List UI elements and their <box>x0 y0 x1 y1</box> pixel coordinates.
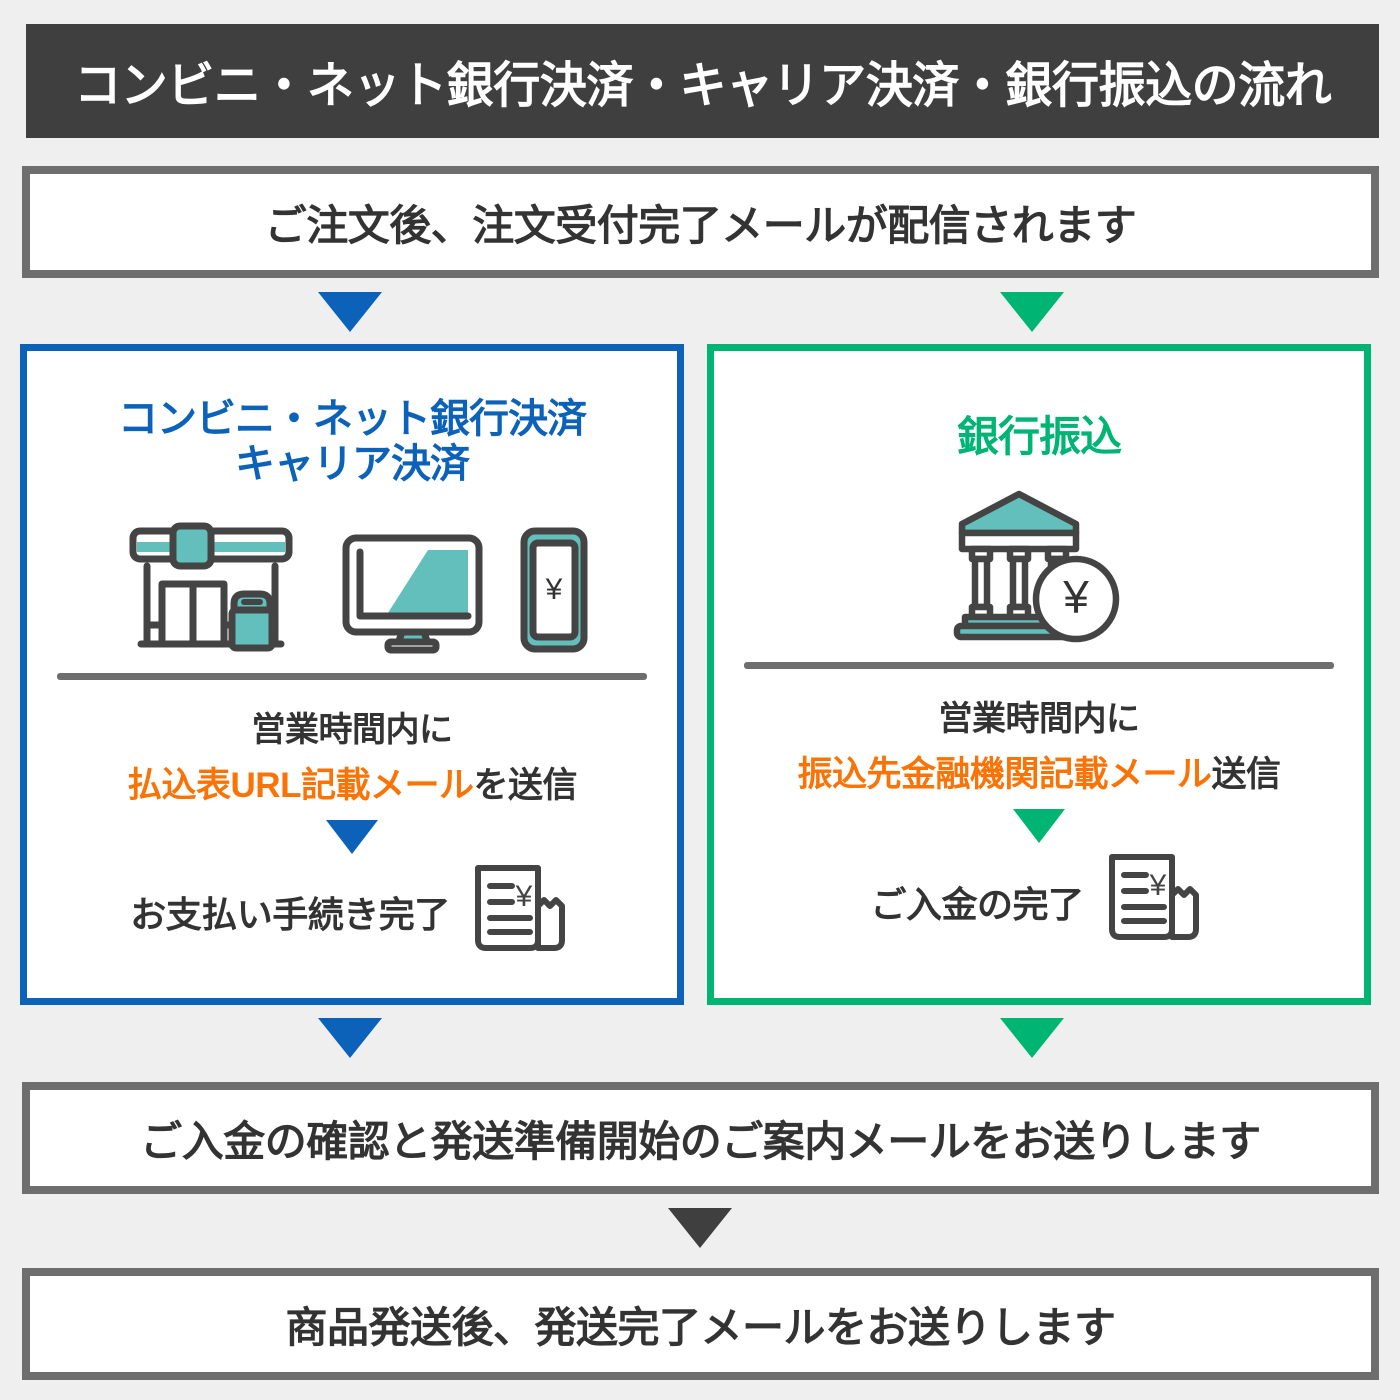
down-arrow-icon-conveni-out <box>318 1018 382 1058</box>
down-arrow-icon-bank-out <box>1000 1018 1064 1058</box>
bank-step-second: 振込先金融機関記載メール送信 <box>714 746 1364 797</box>
bank-building-yen-icon: ¥ <box>948 485 1130 648</box>
svg-text:¥: ¥ <box>514 880 532 913</box>
flow-diagram-canvas: コンビニ・ネット銀行決済・キャリア決済・銀行振込の流れ ご注文後、注文受付完了メ… <box>0 0 1400 1400</box>
conveni-step-highlight: 払込表URL記載メール <box>127 766 473 805</box>
bank-step-first: 営業時間内に <box>714 691 1364 740</box>
panel-divider <box>57 673 647 680</box>
down-arrow-icon-bank-inner <box>1013 809 1065 843</box>
payment-panel-bank: 銀行振込 <box>707 344 1371 1005</box>
down-arrow-icon-conveni-inner <box>326 820 378 854</box>
panel-divider <box>744 662 1334 669</box>
step-banner-payment-confirmed: ご入金の確認と発送準備開始のご案内メールをお送りします <box>22 1082 1379 1194</box>
receipt-yen-icon: ¥ <box>1100 851 1208 952</box>
payment-panel-conveni-icons: ¥ <box>27 509 677 659</box>
bank-complete-label: ご入金の完了 <box>870 876 1083 928</box>
smartphone-yen-icon: ¥ <box>519 526 589 659</box>
conveni-step-second: 払込表URL記載メールを送信 <box>27 757 677 808</box>
step-banner-shipped: 商品発送後、発送完了メールをお送りします <box>22 1268 1379 1380</box>
bank-complete-row: ご入金の完了 ¥ <box>714 851 1364 952</box>
page-title-bar: コンビニ・ネット銀行決済・キャリア決済・銀行振込の流れ <box>26 24 1379 138</box>
conveni-complete-label: お支払い手続き完了 <box>130 886 450 938</box>
desktop-monitor-icon <box>340 532 485 659</box>
step-banner-shipped-label: 商品発送後、発送完了メールをお送りします <box>285 1294 1115 1355</box>
payment-panel-conveni-heading: コンビニ・ネット銀行決済 キャリア決済 <box>27 397 677 487</box>
conveni-step-first: 営業時間内に <box>27 702 677 751</box>
page-title: コンビニ・ネット銀行決済・キャリア決済・銀行振込の流れ <box>74 46 1331 117</box>
bank-step-highlight: 振込先金融機関記載メール <box>797 755 1211 794</box>
step-banner-payment-confirmed-label: ご入金の確認と発送準備開始のご案内メールをお送りします <box>140 1108 1261 1169</box>
svg-text:¥: ¥ <box>1148 869 1166 902</box>
convenience-store-icon <box>116 522 306 659</box>
step-banner-order-label: ご注文後、注文受付完了メールが配信されます <box>265 192 1137 253</box>
receipt-yen-icon: ¥ <box>466 862 574 963</box>
step-banner-order: ご注文後、注文受付完了メールが配信されます <box>22 166 1379 278</box>
down-arrow-icon-to-bank <box>1000 292 1064 332</box>
bank-step-suffix: 送信 <box>1212 755 1281 794</box>
payment-panel-bank-icons: ¥ <box>714 488 1364 648</box>
down-arrow-icon-to-conveni <box>318 292 382 332</box>
svg-text:¥: ¥ <box>544 573 562 606</box>
conveni-complete-row: お支払い手続き完了 ¥ <box>27 862 677 963</box>
svg-text:¥: ¥ <box>1062 571 1089 623</box>
down-arrow-icon-final <box>668 1208 732 1248</box>
conveni-step-suffix: を送信 <box>473 766 577 805</box>
payment-panel-conveni: コンビニ・ネット銀行決済 キャリア決済 <box>20 344 684 1005</box>
payment-panel-bank-heading: 銀行振込 <box>714 413 1364 460</box>
